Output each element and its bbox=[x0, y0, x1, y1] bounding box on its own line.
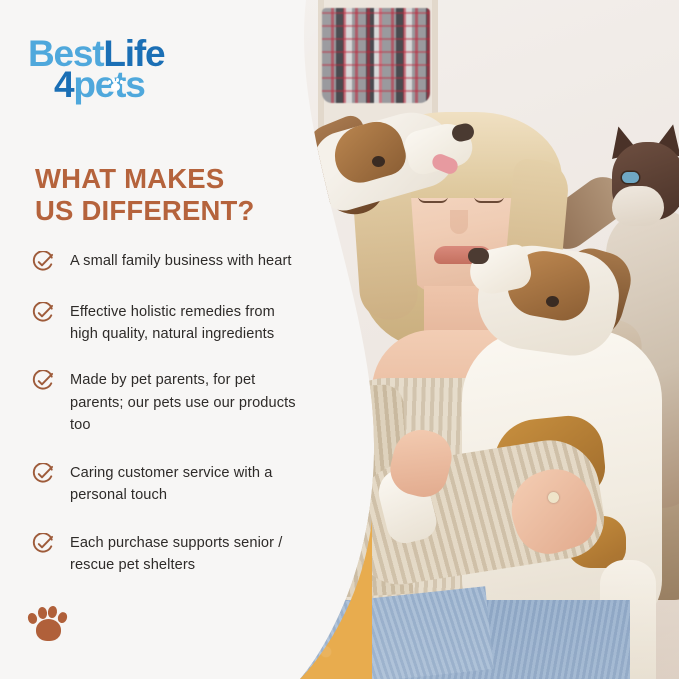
list-item-label: Each purchase supports senior / rescue p… bbox=[70, 532, 304, 576]
headline-line-1: WHAT MAKES bbox=[35, 163, 295, 195]
paw-print-icon bbox=[108, 78, 123, 91]
photo-cat-muzzle bbox=[612, 186, 664, 226]
photo-plaid-blanket bbox=[322, 8, 430, 103]
marketing-infographic: BestLife 4pets WHAT MAKES US DIFFERENT? … bbox=[0, 0, 679, 679]
content-column: BestLife 4pets WHAT MAKES US DIFFERENT? … bbox=[0, 0, 310, 679]
photo-dog-front-eye bbox=[546, 296, 559, 307]
benefits-list: A small family business with heart Effec… bbox=[32, 250, 304, 599]
photo-cat-eye bbox=[622, 172, 639, 183]
list-item: Caring customer service with a personal … bbox=[32, 462, 304, 506]
check-circle-icon bbox=[32, 533, 54, 555]
check-circle-icon bbox=[32, 251, 54, 273]
list-item: Each purchase supports senior / rescue p… bbox=[32, 532, 304, 576]
brand-logo[interactable]: BestLife 4pets bbox=[28, 38, 164, 100]
photo-dog-left-eye bbox=[372, 156, 385, 167]
list-item-label: Effective holistic remedies from high qu… bbox=[70, 301, 304, 345]
photo-woman-nose bbox=[450, 210, 468, 234]
check-circle-icon bbox=[32, 463, 54, 485]
paw-print-icon bbox=[28, 606, 68, 642]
check-circle-icon bbox=[32, 302, 54, 324]
logo-line-two: 4pets bbox=[54, 69, 164, 100]
list-item: Effective holistic remedies from high qu… bbox=[32, 301, 304, 345]
photo-woman-ring bbox=[548, 492, 559, 503]
list-item-label: Made by pet parents, for pet parents; ou… bbox=[70, 369, 304, 436]
check-circle-icon bbox=[32, 370, 54, 392]
page-title: WHAT MAKES US DIFFERENT? bbox=[35, 163, 295, 227]
list-item: Made by pet parents, for pet parents; ou… bbox=[32, 369, 304, 436]
headline-line-2: US DIFFERENT? bbox=[35, 195, 295, 227]
list-item: A small family business with heart bbox=[32, 250, 304, 273]
logo-text-four: 4 bbox=[54, 64, 73, 105]
list-item-label: A small family business with heart bbox=[70, 250, 292, 272]
photo-dog-front-nose bbox=[468, 248, 489, 264]
list-item-label: Caring customer service with a personal … bbox=[70, 462, 304, 506]
